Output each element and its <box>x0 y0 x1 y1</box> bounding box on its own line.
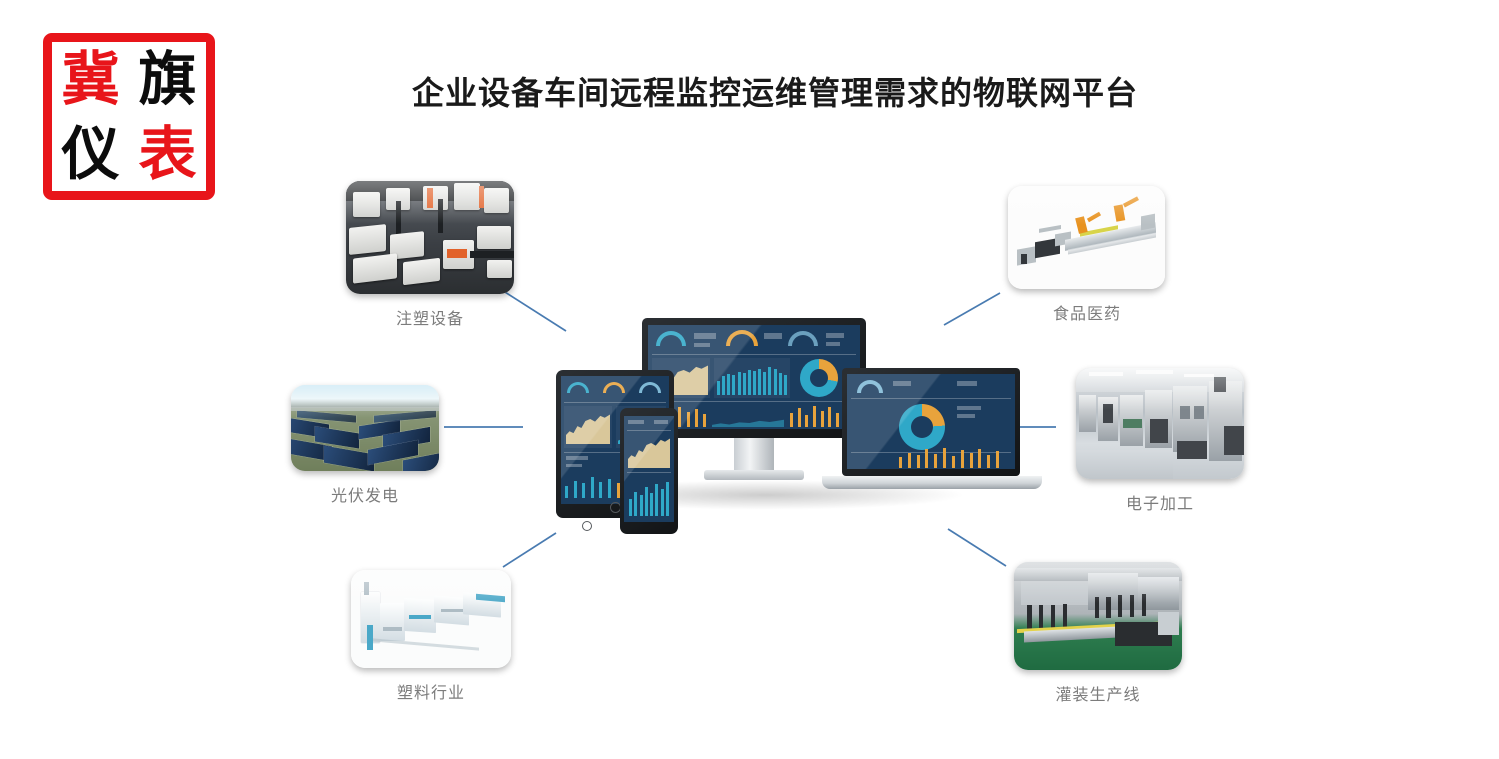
node-filling[interactable]: 灌装生产线 <box>1008 562 1188 705</box>
node-food-image <box>1008 186 1165 289</box>
node-electronic-label: 电子加工 <box>1070 490 1250 514</box>
device-phone[interactable] <box>620 408 678 534</box>
logo-char-biao: 表 <box>129 117 206 192</box>
node-solar[interactable]: 光伏发电 <box>285 385 445 506</box>
node-food-label: 食品医药 <box>1002 300 1172 324</box>
node-plastic-label: 塑料行业 <box>345 679 517 703</box>
page-title: 企业设备车间远程监控运维管理需求的物联网平台 <box>360 68 1190 114</box>
node-injection[interactable]: 注塑设备 <box>340 181 520 329</box>
node-electronic-image <box>1076 368 1244 479</box>
node-plastic[interactable]: 塑料行业 <box>345 570 517 703</box>
monitor-stand-neck <box>734 438 774 472</box>
company-logo: 冀 旗 仪 表 <box>43 33 215 200</box>
logo-char-ji: 冀 <box>52 42 129 117</box>
phone-home-button[interactable] <box>582 521 592 531</box>
connector-plastic <box>503 533 556 567</box>
logo-char-yi: 仪 <box>52 117 129 192</box>
laptop-screen <box>847 374 1015 469</box>
logo-char-qi: 旗 <box>129 42 206 117</box>
device-laptop[interactable] <box>842 368 1020 476</box>
monitor-stand-base <box>704 470 804 480</box>
node-injection-image <box>346 181 514 294</box>
node-electronic[interactable]: 电子加工 <box>1070 368 1250 514</box>
connector-filling <box>948 529 1006 566</box>
node-solar-label: 光伏发电 <box>285 482 445 506</box>
node-solar-image <box>291 385 439 471</box>
laptop-base <box>822 476 1042 489</box>
node-filling-label: 灌装生产线 <box>1008 681 1188 705</box>
monitor-screen <box>648 325 860 429</box>
node-filling-image <box>1014 562 1182 670</box>
node-plastic-image <box>351 570 511 668</box>
device-cluster <box>556 312 968 512</box>
node-injection-label: 注塑设备 <box>340 305 520 329</box>
phone-screen <box>624 416 674 522</box>
node-food[interactable]: 食品医药 <box>1002 186 1172 324</box>
